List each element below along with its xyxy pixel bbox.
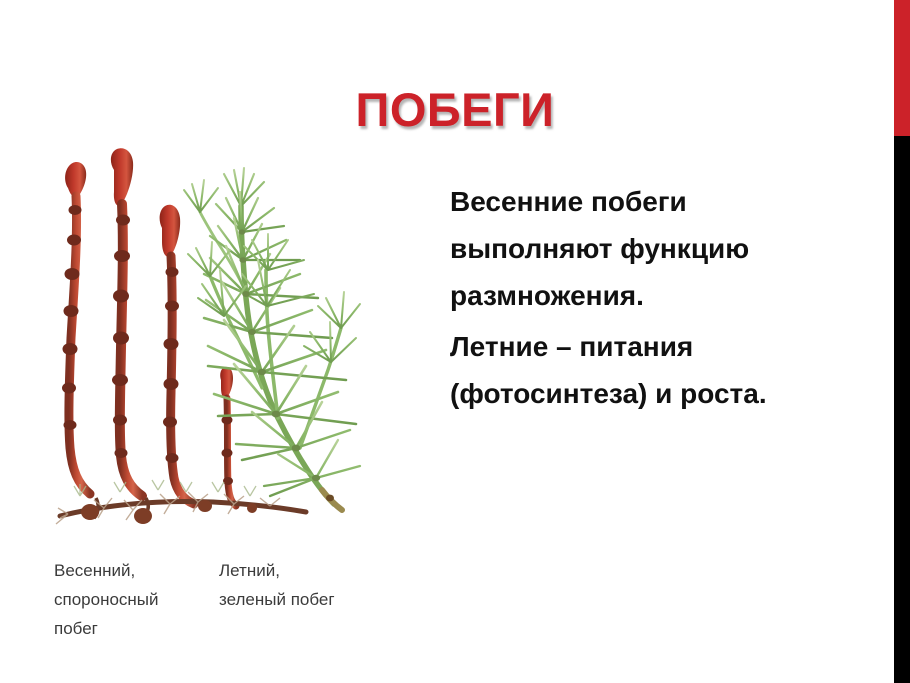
slide-canvas: ПОБЕГИ Весенние побеги выполняют функцию… [0,0,910,683]
rhizome-tuber-1 [81,504,99,520]
edge-accent-bar-red [894,0,910,136]
rhizome-tuber-3 [198,500,212,512]
strobilus-cone-short [220,367,233,399]
horsetail-illustration [38,148,368,538]
spring-shoot-left [62,162,90,494]
spring-shoot-middle [111,148,142,496]
summer-base-node [326,495,334,502]
page-title: ПОБЕГИ [330,84,580,136]
horsetail-illustration-svg [38,148,368,538]
caption-summer-shoot: Летний, зеленый побег [219,556,389,614]
strobilus-cone-middle [111,148,133,205]
rhizome-tuber-4 [247,503,257,513]
summer-green-shoot [184,168,360,510]
body-paragraph-2: Летние – питания (фотосинтеза) и роста. [450,323,780,417]
body-paragraph-1: Весенние побеги выполняют функцию размно… [450,178,780,319]
body-text-block: Весенние побеги выполняют функцию размно… [450,178,780,421]
caption-spring-shoot: Весенний, спороносный побег [54,556,204,643]
edge-accent-bar-black [894,136,910,683]
rhizome-tuber-2 [134,508,152,524]
spring-shoot-right [160,205,194,504]
strobilus-cone-right [160,205,181,257]
summer-branch-whorls [184,168,360,496]
